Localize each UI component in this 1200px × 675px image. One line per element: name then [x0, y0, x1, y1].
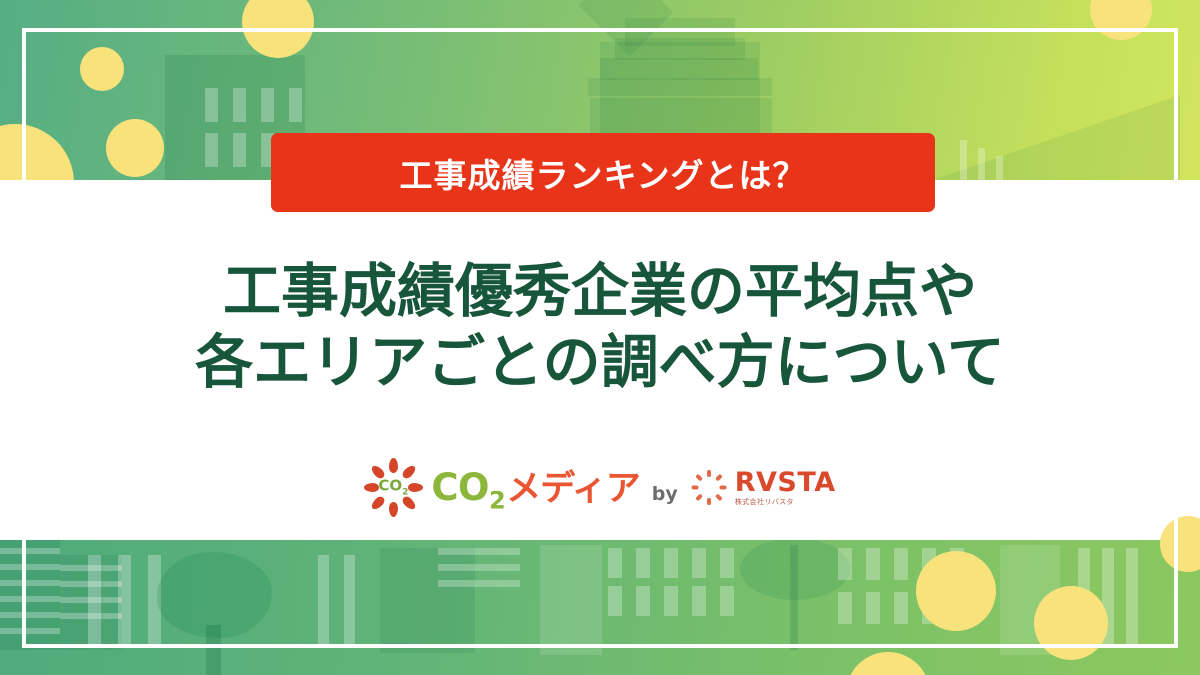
topic-badge-label: 工事成績ランキングとは？ [399, 149, 806, 197]
arc-segment [715, 473, 723, 481]
page-title-line-1: 工事成績優秀企業の平均点や [0, 256, 1200, 327]
building-right-diagonal [930, 95, 1180, 181]
window-grid-cell [636, 548, 650, 578]
window-grid-cell [205, 133, 218, 167]
window-stripe [0, 612, 60, 618]
window-column [344, 555, 355, 645]
tree-trunk [206, 625, 221, 675]
page-title-line-2: 各エリアごとの調べ方について [0, 327, 1200, 398]
window-grid-cell [894, 592, 908, 624]
window-grid-cell [894, 548, 908, 580]
window-stripe [0, 564, 60, 570]
window-stripe [0, 548, 60, 554]
window-grid-cell [261, 88, 274, 122]
window-stripe [960, 140, 967, 182]
window-grid-cell [838, 548, 852, 580]
page-title: 工事成績優秀企業の平均点や 各エリアごとの調べ方について [0, 256, 1200, 399]
window-grid-cell [692, 548, 706, 578]
arc-segment [707, 470, 711, 477]
window-grid-cell [866, 548, 880, 580]
arc-segment [715, 493, 723, 501]
window-column [118, 555, 131, 645]
window-grid-cell [866, 592, 880, 624]
rvsta-dotted-circle-icon [691, 469, 727, 505]
decor-dot-yellow [1034, 586, 1108, 660]
building-bottom-right-tall [540, 545, 602, 655]
window-grid-cell [205, 88, 218, 122]
rvsta-wordmark: RVSTA 株式会社リバスタ [735, 469, 836, 506]
co2-mark-label: CO2 [364, 477, 422, 498]
window-grid-cell [233, 88, 246, 122]
window-stripe [996, 156, 1003, 182]
arc-segment [719, 485, 726, 489]
co2-mark-subscript: 2 [402, 488, 408, 498]
decor-dot-yellow [916, 551, 996, 631]
window-grid-cell [720, 586, 734, 616]
wordmark-media: メディア [506, 460, 640, 511]
rvsta-subtitle: 株式会社リバスタ [735, 499, 836, 506]
wordmark-co2: CO2 [431, 466, 505, 514]
arc-segment [695, 493, 703, 501]
petal-shape [389, 458, 398, 473]
petal-shape [389, 502, 398, 517]
wordmark-co2-subscript: 2 [489, 486, 505, 514]
decor-dot-yellow [106, 119, 164, 177]
window-grid-cell [233, 133, 246, 167]
wordmark-co2-text: CO [431, 466, 489, 509]
by-label: by [652, 483, 678, 505]
window-stripe [0, 596, 60, 602]
tree-trunk [790, 545, 798, 650]
window-grid-cell [664, 548, 678, 578]
window-grid-cell [692, 586, 706, 616]
window-column [318, 555, 329, 645]
co2-media-wordmark: CO2 メディア by [431, 460, 677, 514]
arc-segment [695, 473, 703, 481]
window-grid-cell [664, 586, 678, 616]
window-stripe [0, 580, 60, 586]
window-stripe [438, 564, 520, 571]
window-stripe [978, 148, 985, 182]
arc-segment [707, 498, 711, 505]
window-grid-cell [608, 548, 622, 578]
window-grid-cell [636, 586, 650, 616]
window-column [88, 555, 101, 645]
window-grid-cell [838, 592, 852, 624]
window-column [1126, 548, 1138, 644]
window-grid-cell [720, 548, 734, 578]
slide-canvas: 工事成績ランキングとは？ 工事成績優秀企業の平均点や 各エリアごとの調べ方につい… [0, 0, 1200, 675]
topic-badge: 工事成績ランキングとは？ [271, 133, 935, 212]
window-stripe [0, 628, 60, 634]
window-grid-cell [608, 586, 622, 616]
window-stripe [438, 580, 520, 587]
window-grid-cell [289, 88, 302, 122]
rvsta-name: RVSTA [735, 469, 836, 496]
arc-segment [691, 485, 698, 489]
co2-magnifier-icon: CO2 [364, 459, 422, 515]
co2-mark-text: CO [378, 477, 402, 495]
logo-lockup: CO2 CO2 メディア by RVSTA 株式会社リバスタ [0, 458, 1200, 516]
window-stripe [438, 548, 520, 555]
decor-dot-yellow [80, 47, 124, 91]
